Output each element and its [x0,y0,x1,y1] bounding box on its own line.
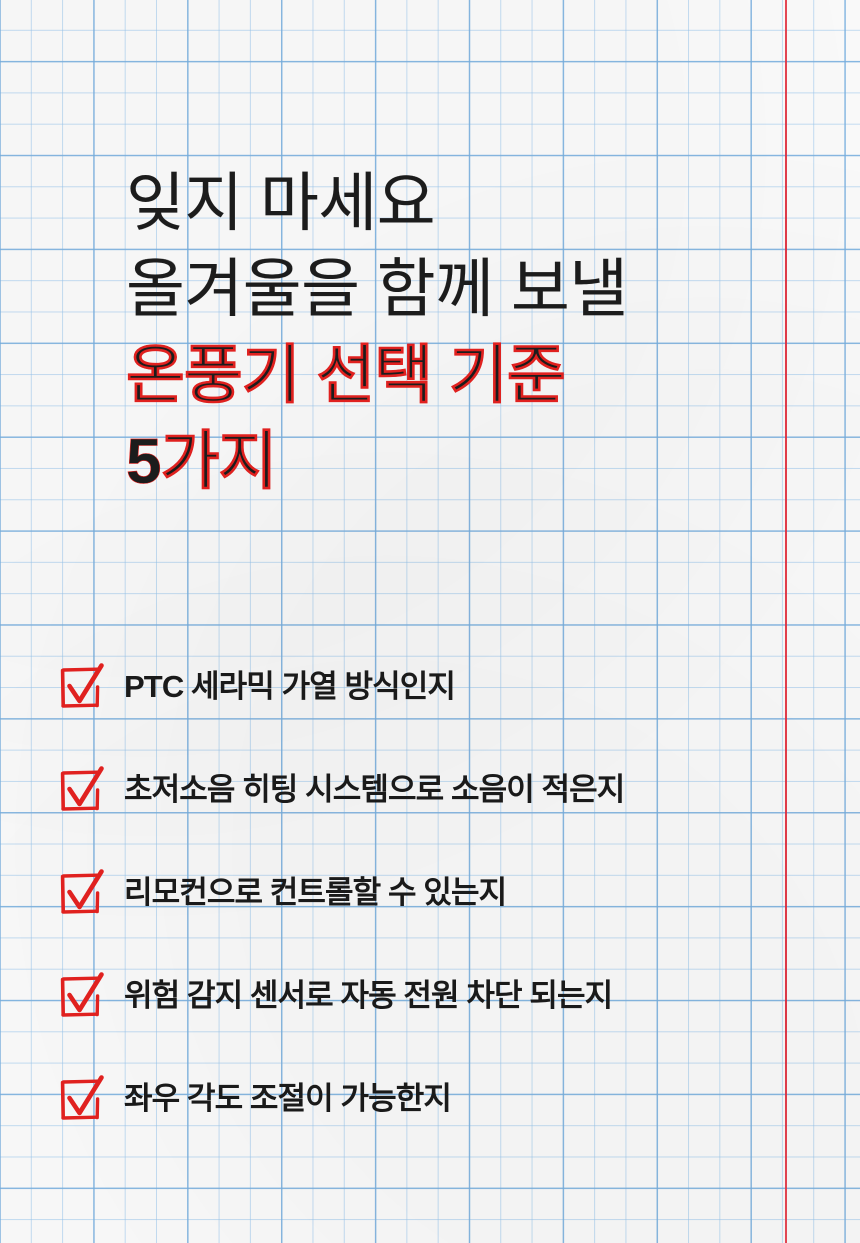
list-item[interactable]: 위험 감지 센서로 자동 전원 차단 되는지 [58,969,848,1023]
headline-line-3-accent: 온풍기 선택 기준 [126,332,766,418]
page-content: 잊지 마세요 올겨울을 함께 보낼 온풍기 선택 기준 5가지 [0,0,860,1243]
headline-block: 잊지 마세요 올겨울을 함께 보낼 온풍기 선택 기준 5가지 [126,160,766,504]
checked-checkbox-icon[interactable] [58,871,104,917]
notebook-page: 잊지 마세요 올겨울을 함께 보낼 온풍기 선택 기준 5가지 [0,0,860,1243]
headline-line-2: 올겨울을 함께 보낼 [126,246,766,332]
list-item-label: 초저소음 히팅 시스템으로 소음이 적은지 [124,770,624,810]
list-item[interactable]: 초저소음 히팅 시스템으로 소음이 적은지 [58,763,848,817]
checked-checkbox-icon[interactable] [58,665,104,711]
list-item-label: PTC 세라믹 가열 방식인지 [124,667,455,707]
list-item-label: 리모컨으로 컨트롤할 수 있는지 [124,873,506,913]
list-item-label: 좌우 각도 조절이 가능한지 [124,1079,451,1119]
checked-checkbox-icon[interactable] [58,974,104,1020]
checklist: PTC 세라믹 가열 방식인지 초저소음 히팅 시스템으로 소음이 적은 [58,660,848,1126]
list-item[interactable]: 좌우 각도 조절이 가능한지 [58,1072,848,1126]
list-item[interactable]: PTC 세라믹 가열 방식인지 [58,660,848,714]
headline-line-1: 잊지 마세요 [126,160,766,246]
checked-checkbox-icon[interactable] [58,1077,104,1123]
headline-line-4-accent: 5가지 [126,418,766,504]
checked-checkbox-icon[interactable] [58,768,104,814]
list-item-label: 위험 감지 센서로 자동 전원 차단 되는지 [124,976,612,1016]
list-item[interactable]: 리모컨으로 컨트롤할 수 있는지 [58,866,848,920]
